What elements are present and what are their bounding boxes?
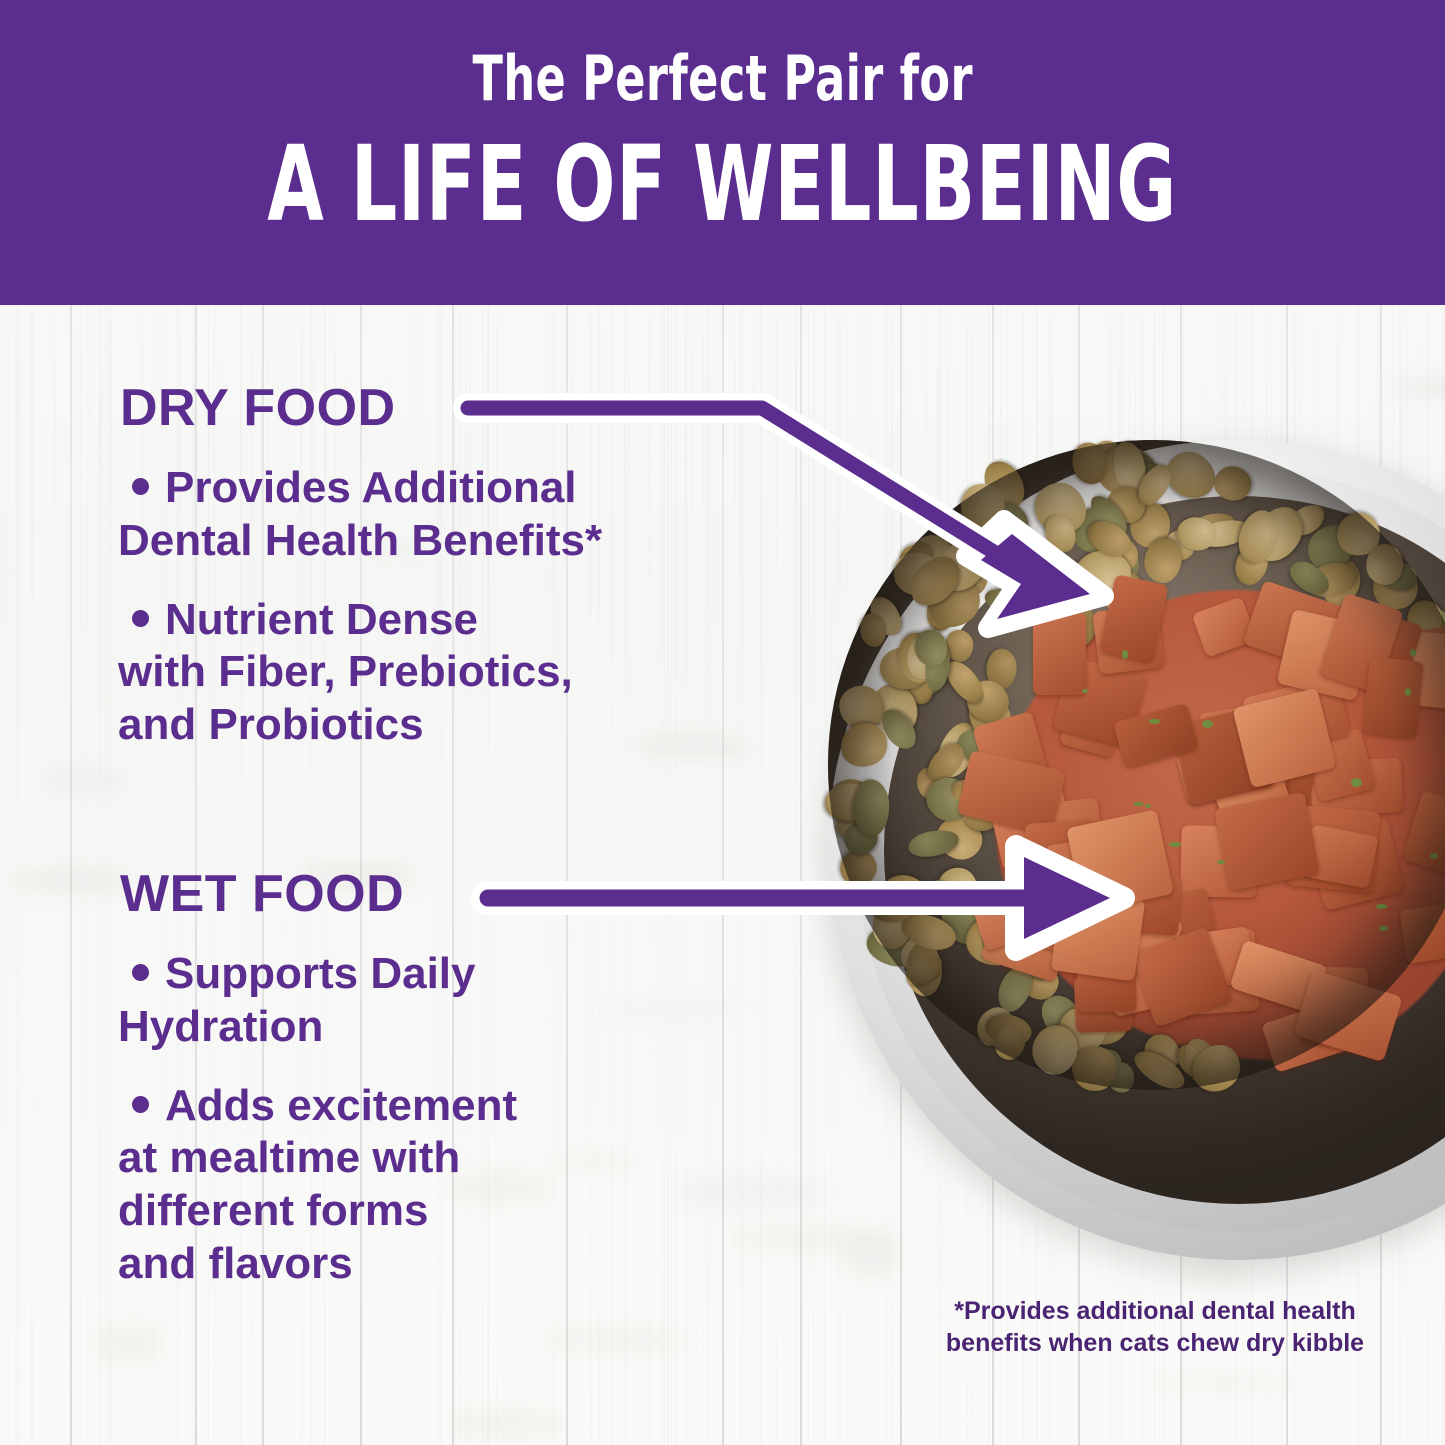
footnote-line-1: *Provides additional dental health (954, 1297, 1355, 1325)
wet-food-heading: WET FOOD (120, 868, 404, 920)
bullet-dot-icon (132, 610, 149, 627)
header-subtitle: The Perfect Pair for (472, 48, 972, 110)
kibble-piece (853, 779, 889, 836)
bullet-line: different forms (118, 1186, 428, 1235)
herb-fleck (1122, 650, 1127, 658)
wet-food-bullet-list: Supports Daily Hydration Adds excitement… (118, 948, 758, 1317)
list-item: Provides Additional Dental Health Benefi… (118, 462, 758, 568)
pet-food-bowl-image (828, 440, 1445, 1260)
bullet-line: with Fiber, Prebiotics, (118, 647, 573, 696)
page-title: A LIFE OF WELLBEING (268, 132, 1178, 236)
wood-blotch (541, 1328, 686, 1352)
list-item: Adds excitement at mealtime with differe… (118, 1080, 758, 1291)
bullet-line: Provides Additional (165, 463, 577, 512)
herb-fleck (1217, 860, 1225, 864)
bullet-line: Supports Daily (165, 949, 476, 998)
herb-fleck (1133, 802, 1144, 806)
bullet-line: Hydration (118, 1002, 323, 1051)
list-item: Nutrient Dense with Fiber, Prebiotics, a… (118, 594, 758, 752)
wood-blotch (1179, 1269, 1249, 1280)
wood-blotch (450, 1408, 563, 1440)
wet-food-chunk (1033, 612, 1085, 695)
wet-food-chunk (1399, 899, 1445, 963)
herb-fleck (1430, 853, 1438, 859)
herb-fleck (1376, 904, 1387, 908)
herb-fleck (1351, 778, 1362, 787)
bullet-line: Dental Health Benefits* (118, 516, 602, 565)
bullet-line: and Probiotics (118, 700, 424, 749)
bullet-dot-icon (132, 478, 149, 495)
dry-food-bullet-list: Provides Additional Dental Health Benefi… (118, 462, 758, 778)
footnote: *Provides additional dental health benef… (940, 1296, 1370, 1359)
wood-blotch (41, 764, 127, 798)
kibble-piece (1366, 544, 1403, 586)
bullet-line: Nutrient Dense (165, 595, 478, 644)
wet-food-chunk (1066, 809, 1174, 912)
bullet-dot-icon (132, 964, 149, 981)
list-item: Supports Daily Hydration (118, 948, 758, 1054)
herb-fleck (1202, 720, 1213, 728)
bullet-line: Adds excitement (165, 1081, 517, 1130)
bullet-line: at mealtime with (118, 1133, 460, 1182)
herb-fleck (1410, 649, 1416, 657)
header-banner: The Perfect Pair for A LIFE OF WELLBEING (0, 0, 1445, 305)
herb-fleck (1169, 842, 1181, 846)
footnote-line-2: benefits when cats chew dry kibble (946, 1329, 1364, 1357)
wet-food-chunk (1213, 792, 1319, 891)
promo-graphic: The Perfect Pair for A LIFE OF WELLBEING… (0, 0, 1445, 1445)
wood-blotch (8, 867, 134, 893)
wood-blotch (1142, 1377, 1300, 1389)
bullet-dot-icon (132, 1096, 149, 1113)
wood-blotch (93, 1322, 166, 1365)
wet-food-chunk (1362, 656, 1424, 738)
dry-food-heading: DRY FOOD (120, 382, 396, 434)
bullet-line: and flavors (118, 1239, 353, 1288)
